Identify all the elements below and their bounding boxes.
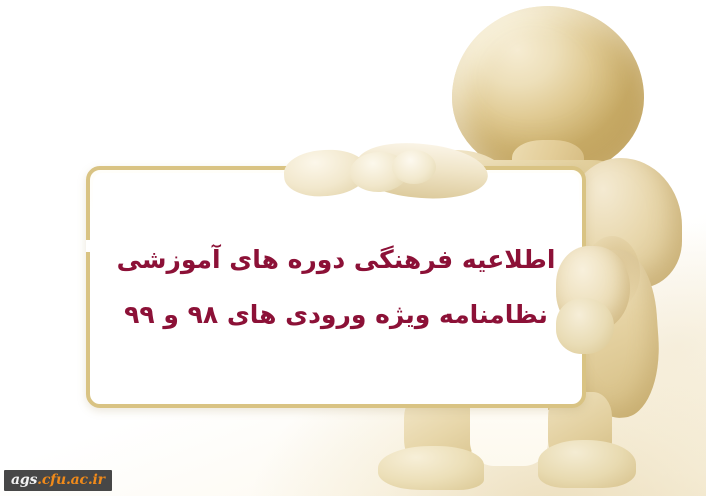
board-face: اطلاعیه فرهنگی دوره های آموزشی نظامنامه … [93, 173, 579, 401]
character-elbow-shadow [584, 236, 640, 310]
announcement-line-2: نظامنامه ویژه ورودی های ۹۸ و ۹۹ [124, 296, 548, 334]
watermark-prefix: ags [11, 472, 37, 488]
character-right-foot [538, 440, 636, 488]
announcement-image: اطلاعیه فرهنگی دوره های آموزشی نظامنامه … [0, 0, 706, 496]
character-head [452, 6, 644, 176]
watermark: ags.cfu.ac.ir [4, 470, 112, 491]
character-left-foot [378, 446, 484, 490]
announcement-line-1: اطلاعیه فرهنگی دوره های آموزشی [117, 241, 556, 279]
watermark-suffix: .cfu.ac.ir [37, 472, 105, 488]
announcement-board: اطلاعیه فرهنگی دوره های آموزشی نظامنامه … [86, 166, 586, 408]
frame-highlight-notch [86, 240, 91, 252]
